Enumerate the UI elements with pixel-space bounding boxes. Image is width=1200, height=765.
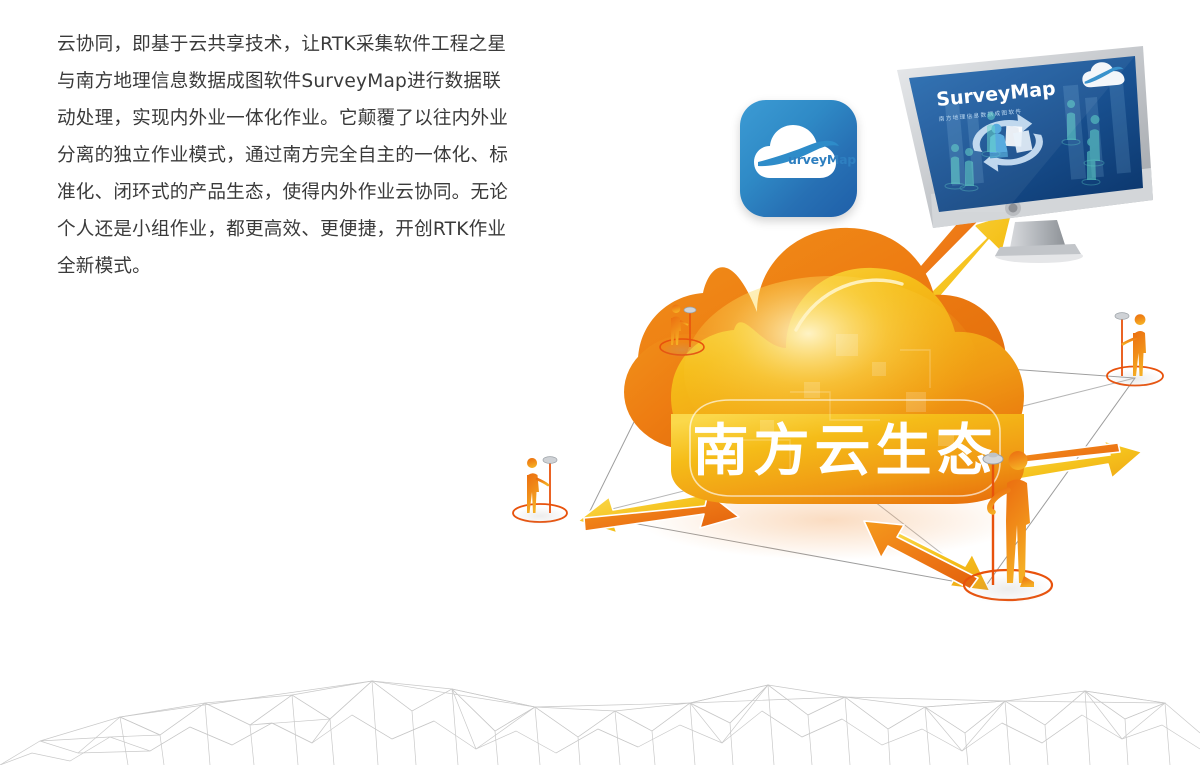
wireframe-mountain-footer (0, 645, 1200, 765)
mountain-svg (0, 645, 1200, 765)
desktop-monitor: SurveyMap 南方地理信息数据成图软件 (885, 42, 1175, 267)
surveyor-northeast (1107, 313, 1163, 389)
cloud-label: 南方云生态 (693, 419, 998, 484)
surveymap-app-icon[interactable]: urveyMap (740, 100, 857, 217)
app-icon-label: urveyMap (788, 152, 856, 167)
surveyor-southwest (513, 457, 567, 525)
monitor-svg: SurveyMap 南方地理信息数据成图软件 (885, 42, 1175, 267)
monitor-base (995, 244, 1081, 256)
